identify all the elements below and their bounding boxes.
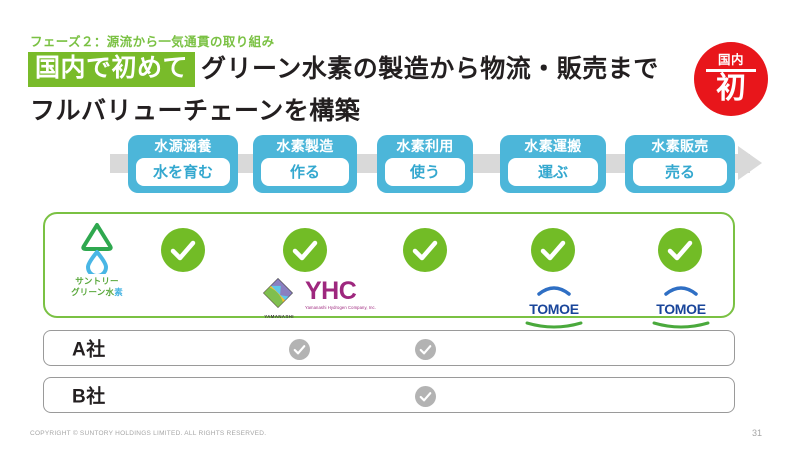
- company-row-a[interactable]: A社: [43, 330, 735, 366]
- flow-step-4-title: 水素運搬: [524, 138, 581, 156]
- yamanashi-logo: YAMANASHI: [258, 278, 300, 319]
- slide-eyebrow: フェーズ２：源流から一気通貫の取り組み: [30, 31, 274, 50]
- flow-step-2-verb: 作る: [261, 158, 349, 186]
- suntory-logo-line1: サントリー: [58, 276, 136, 287]
- title-line-2: フルバリューチェーンを構築: [28, 91, 668, 127]
- tomoe-logo-1: TOMOE: [523, 283, 585, 334]
- suntory-logo-line2: グリーン水素: [58, 287, 136, 298]
- page-number: 31: [752, 428, 762, 438]
- tomoe-wordmark-2: TOMOE: [650, 302, 712, 316]
- check-icon-step-2: [283, 228, 327, 272]
- flow-step-5-verb: 売る: [633, 158, 727, 186]
- process-flow: 水源涵養 水を育む 水素製造 作る 水素利用 使う 水素運搬 運ぶ 水素販売 売…: [0, 135, 800, 200]
- slide-canvas: フェーズ２：源流から一気通貫の取り組み 国内で初めてグリーン水素の製造から物流・…: [0, 0, 800, 450]
- yamanashi-mark-icon: [258, 278, 298, 308]
- suntory-mark-icon: [80, 222, 114, 274]
- flow-step-4-verb: 運ぶ: [508, 158, 598, 186]
- tomoe-swoosh-icon: [650, 321, 712, 329]
- check-icon-company-a-step-2: [289, 339, 310, 360]
- yhc-logo: YHC Yamanashi Hydrogen Company, Inc.: [305, 280, 376, 310]
- flow-step-5[interactable]: 水素販売 売る: [625, 135, 735, 193]
- flow-step-1[interactable]: 水源涵養 水を育む: [128, 135, 238, 193]
- flow-step-3-verb: 使う: [385, 158, 465, 186]
- check-icon-step-3: [403, 228, 447, 272]
- flow-step-2-title: 水素製造: [276, 138, 333, 156]
- title-highlight: 国内で初めて: [28, 52, 195, 87]
- check-icon-step-1: [161, 228, 205, 272]
- flow-step-3[interactable]: 水素利用 使う: [377, 135, 473, 193]
- suntory-logo-line2-a: グリーン水: [71, 287, 114, 297]
- flow-arrow-icon: [738, 146, 762, 180]
- copyright-text: COPYRIGHT © SUNTORY HOLDINGS LIMITED. AL…: [30, 430, 266, 437]
- first-in-japan-badge: 国内 初: [694, 42, 768, 116]
- suntory-green-hydrogen-logo: サントリー グリーン水素: [58, 222, 136, 297]
- tomoe-wordmark-1: TOMOE: [523, 302, 585, 316]
- flow-step-2[interactable]: 水素製造 作る: [253, 135, 357, 193]
- suntory-value-chain-panel: [43, 212, 735, 318]
- flow-step-4[interactable]: 水素運搬 運ぶ: [500, 135, 606, 193]
- badge-top-text: 国内: [718, 54, 744, 69]
- yhc-wordmark: YHC: [305, 280, 376, 304]
- check-icon-company-b-step-3: [415, 386, 436, 407]
- tomoe-arc-icon: [523, 283, 585, 297]
- suntory-logo-text: サントリー グリーン水素: [58, 276, 136, 297]
- check-icon-step-4: [531, 228, 575, 272]
- badge-main-text: 初: [716, 74, 746, 104]
- check-icon-step-5: [658, 228, 702, 272]
- yhc-caption: Yamanashi Hydrogen Company, Inc.: [305, 305, 376, 310]
- tomoe-arc-icon: [650, 283, 712, 297]
- flow-step-1-verb: 水を育む: [136, 158, 230, 186]
- title-line-1: 国内で初めてグリーン水素の製造から物流・販売まで: [28, 52, 668, 87]
- company-row-b-label: B社: [72, 382, 106, 409]
- company-row-b[interactable]: B社: [43, 377, 735, 413]
- flow-step-3-title: 水素利用: [396, 138, 453, 156]
- flow-step-1-title: 水源涵養: [154, 138, 211, 156]
- yamanashi-caption: YAMANASHI: [258, 314, 300, 319]
- tomoe-swoosh-icon: [523, 321, 585, 329]
- title-rest: グリーン水素の製造から物流・販売まで: [195, 55, 659, 85]
- suntory-logo-line2-b: 素: [114, 287, 123, 297]
- page-title: 国内で初めてグリーン水素の製造から物流・販売まで フルバリューチェーンを構築: [28, 52, 668, 127]
- check-icon-company-a-step-3: [415, 339, 436, 360]
- tomoe-logo-2: TOMOE: [650, 283, 712, 334]
- company-row-a-label: A社: [72, 335, 106, 362]
- flow-step-5-title: 水素販売: [651, 138, 708, 156]
